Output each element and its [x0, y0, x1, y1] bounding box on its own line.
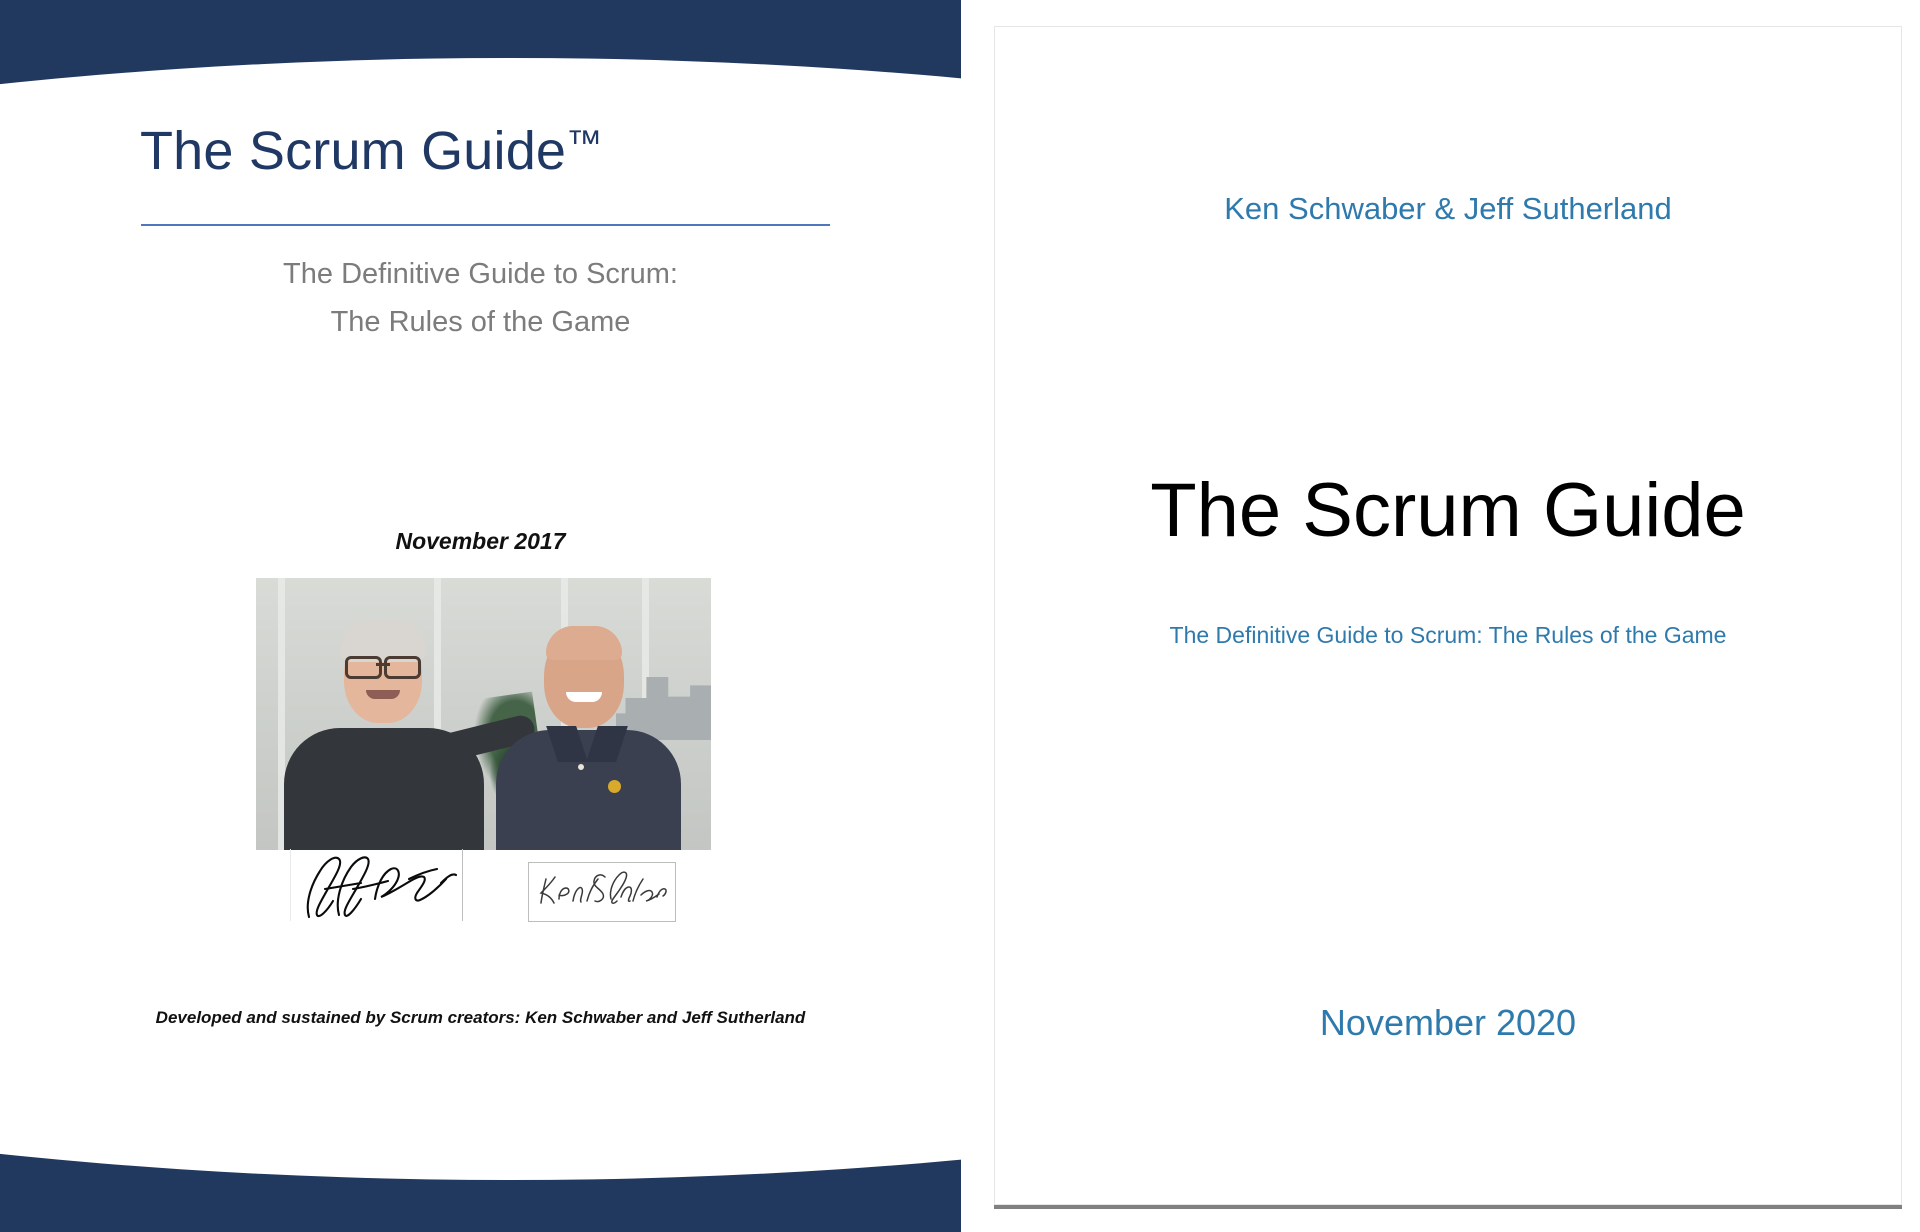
trademark-symbol: ™	[566, 122, 602, 163]
eyeglasses-icon	[345, 656, 421, 673]
left-page-content: The Scrum Guide™ The Definitive Guide to…	[0, 0, 961, 1232]
signature-jeff-sutherland-icon	[291, 849, 462, 921]
left-page-subtitle-line-2: The Rules of the Game	[0, 306, 961, 339]
right-page-authors: Ken Schwaber & Jeff Sutherland	[995, 191, 1901, 227]
left-page-subtitle-line-1: The Definitive Guide to Scrum:	[0, 258, 961, 291]
person-right-scalp	[546, 626, 622, 660]
title-underline-rule	[141, 224, 830, 226]
right-page-date: November 2020	[995, 1002, 1901, 1044]
person-right-smile	[566, 692, 602, 702]
person-right-body	[496, 730, 681, 850]
left-page-date: November 2017	[0, 528, 961, 555]
right-page-title: The Scrum Guide	[995, 467, 1901, 554]
signature-ken-schwaber	[528, 862, 676, 922]
right-page-subtitle: The Definitive Guide to Scrum: The Rules…	[995, 622, 1901, 649]
signature-jeff-sutherland	[290, 849, 463, 921]
scrum-guide-2017-cover-page: The Scrum Guide™ The Definitive Guide to…	[0, 0, 961, 1232]
authors-photo	[256, 578, 711, 850]
left-page-title-text: The Scrum Guide	[140, 121, 566, 181]
polo-button	[578, 764, 584, 770]
lapel-pin	[608, 780, 621, 793]
left-page-caption: Developed and sustained by Scrum creator…	[0, 1008, 961, 1028]
person-left-smile	[366, 690, 400, 699]
signature-ken-schwaber-icon	[529, 863, 673, 919]
left-page-title: The Scrum Guide™	[140, 120, 840, 182]
scrum-guide-2020-cover-page: Ken Schwaber & Jeff Sutherland The Scrum…	[994, 26, 1902, 1205]
